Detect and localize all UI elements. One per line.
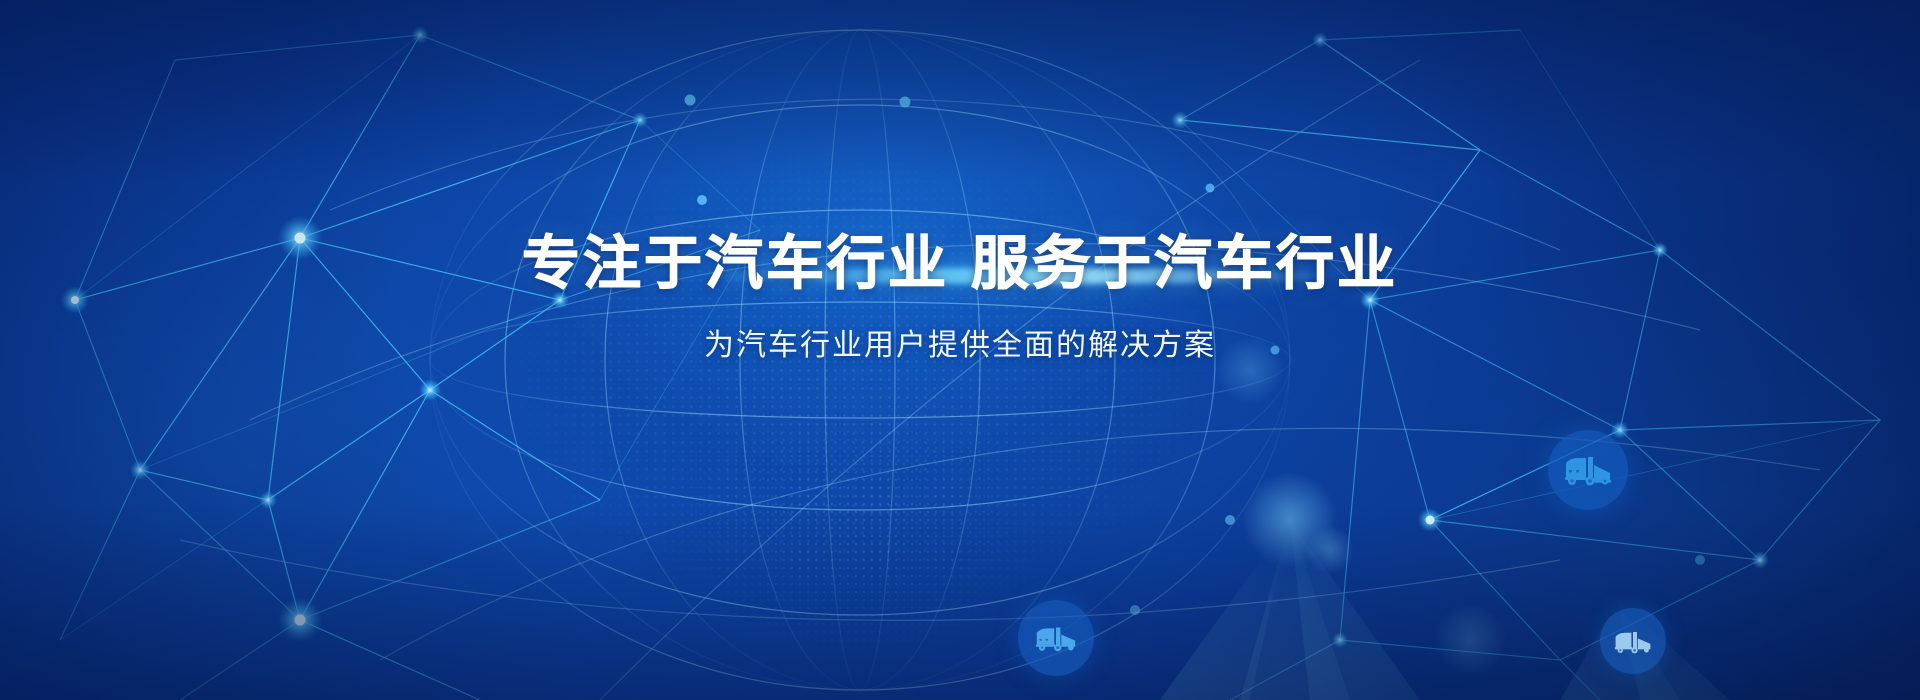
headline-part-1: 专注于汽车行业: [522, 229, 949, 297]
headline-part-2: 服务于汽车行业: [971, 229, 1398, 297]
hero-text-block: 专注于汽车行业服务于汽车行业 为汽车行业用户提供全面的解决方案: [0, 232, 1920, 364]
truck-badge-center-lower: [1018, 600, 1094, 676]
truck-icon: [1614, 628, 1652, 655]
truck-icon: [1564, 453, 1612, 487]
hero-banner: 专注于汽车行业服务于汽车行业 为汽车行业用户提供全面的解决方案: [0, 0, 1920, 700]
page-title: 专注于汽车行业服务于汽车行业: [0, 232, 1920, 296]
truck-icon: [1035, 623, 1077, 653]
page-subtitle: 为汽车行业用户提供全面的解决方案: [0, 320, 1920, 364]
truck-badge-right-lower: [1600, 608, 1666, 674]
truck-badge-right-upper: [1548, 430, 1628, 510]
